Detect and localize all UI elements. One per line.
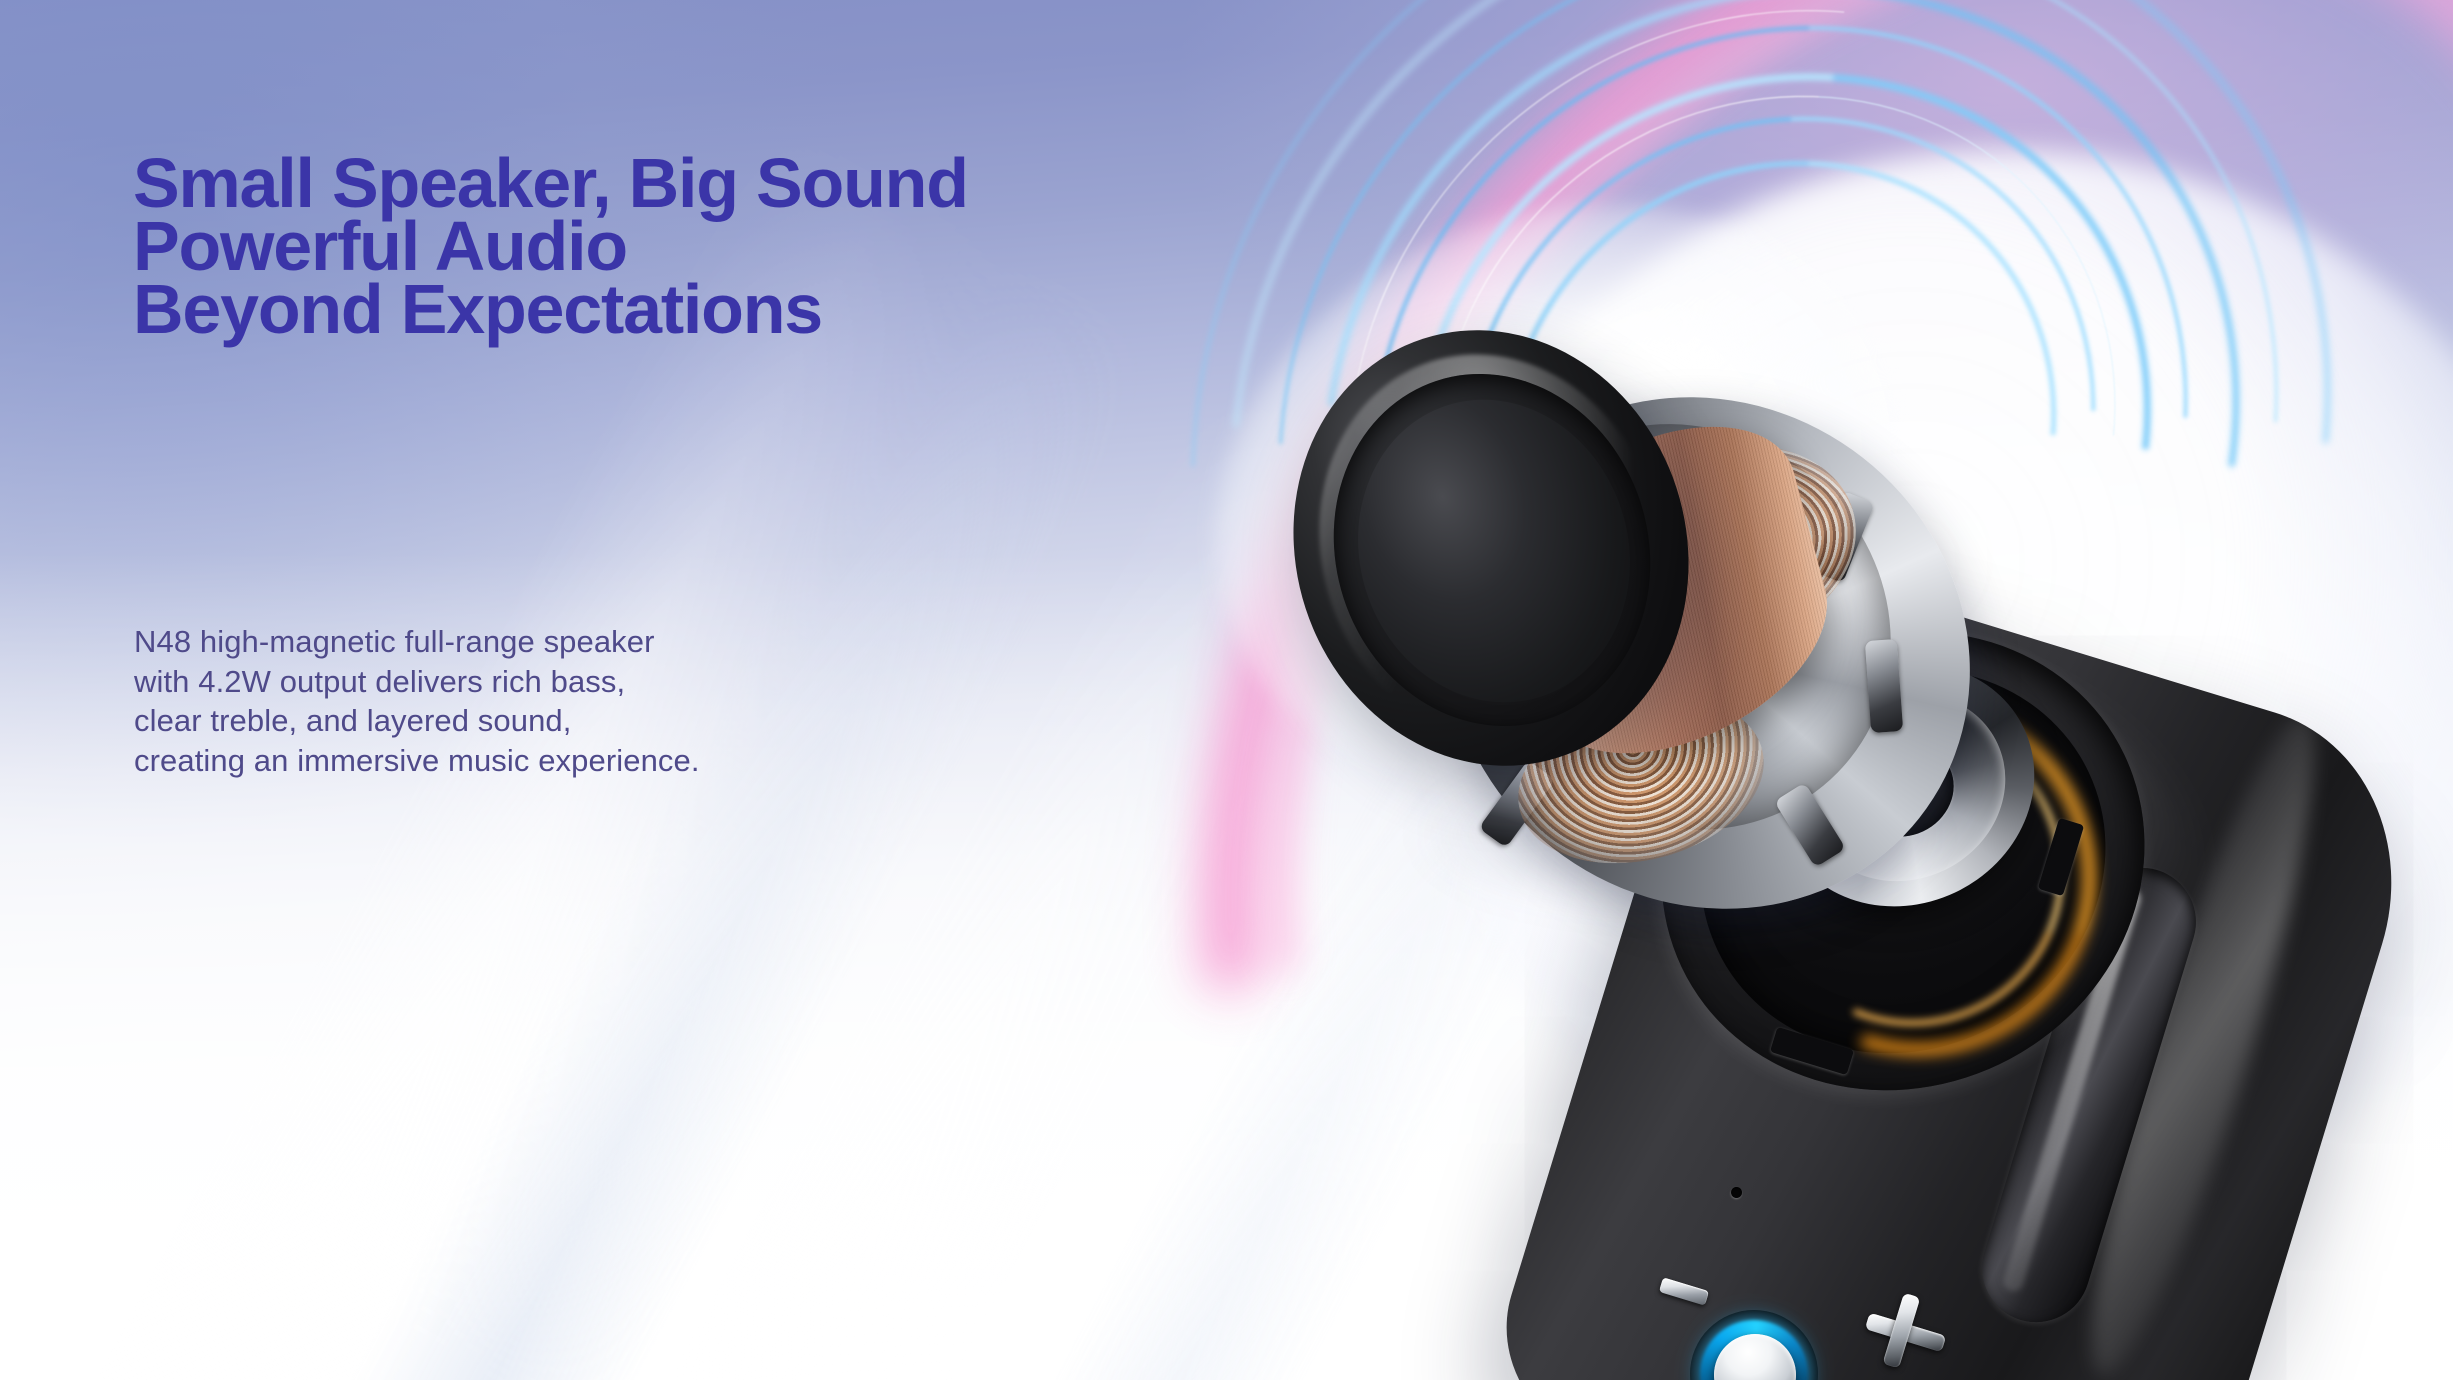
product-hero-banner: Small Speaker, Big Sound Powerful Audio … xyxy=(0,0,2453,1380)
edge-vignette xyxy=(0,0,2453,1380)
